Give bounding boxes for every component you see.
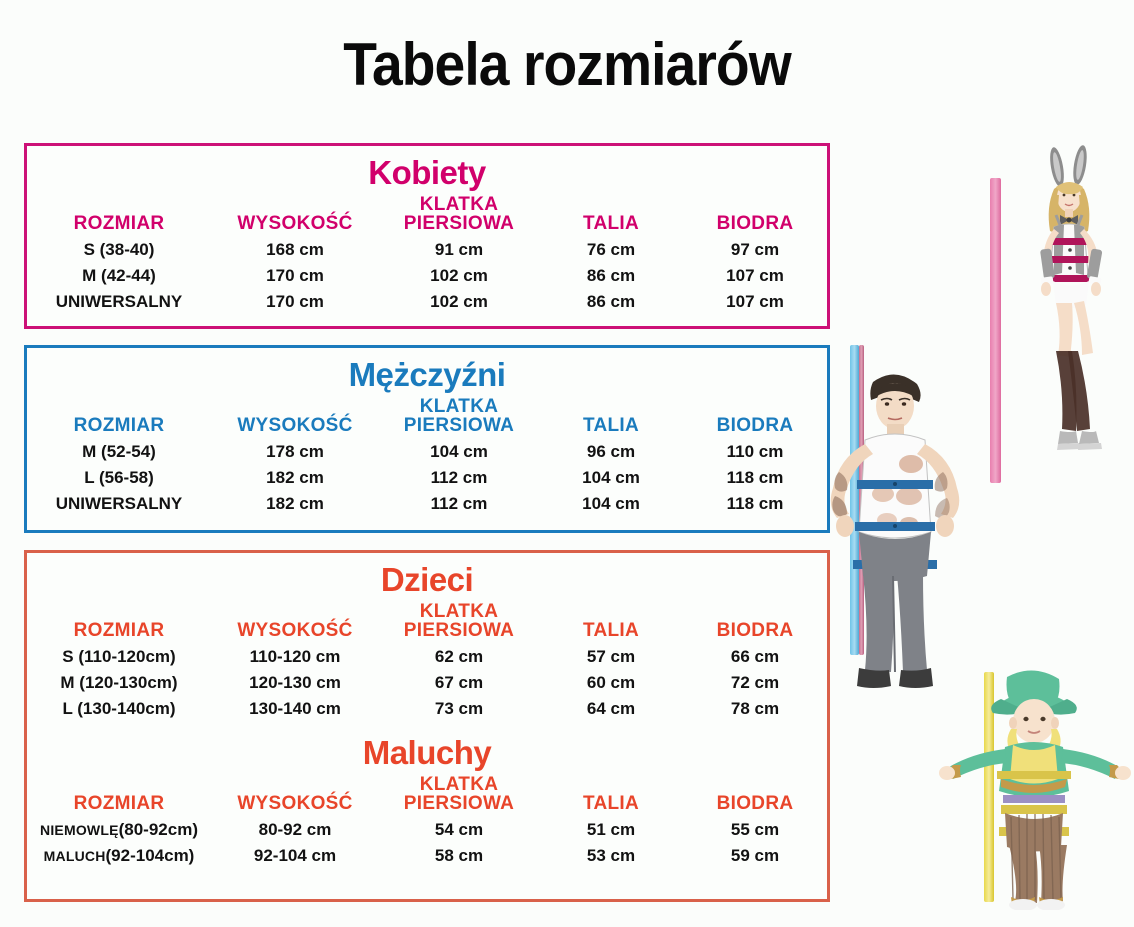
column-header-chest: KLATKA PIERSIOWA <box>379 774 539 817</box>
page-title: Tabela rozmiarów <box>45 30 1088 99</box>
cell-waist: 86 cm <box>539 289 683 315</box>
cell-size-caps: NIEMOWLĘ <box>40 822 119 838</box>
cell-size: M (120-130cm) <box>27 670 211 696</box>
column-header-size: ROZMIAR <box>27 601 211 644</box>
cell-size: NIEMOWLĘ(80-92cm) <box>27 817 211 843</box>
size-table-men: ROZMIAR WYSOKOŚĆ KLATKA PIERSIOWA TALIA … <box>27 396 827 517</box>
cell-height: 170 cm <box>211 289 379 315</box>
column-header-waist: TALIA <box>539 194 683 237</box>
cell-size: UNIWERSALNY <box>27 289 211 315</box>
cell-height: 178 cm <box>211 439 379 465</box>
column-header-chest-line1: KLATKA <box>379 603 539 622</box>
table-row: M (52-54) 178 cm 104 cm 96 cm 110 cm <box>27 439 827 465</box>
column-header-size: ROZMIAR <box>27 396 211 439</box>
cell-height: 170 cm <box>211 263 379 289</box>
table-row: S (110-120cm) 110-120 cm 62 cm 57 cm 66 … <box>27 644 827 670</box>
cell-size: S (110-120cm) <box>27 644 211 670</box>
column-header-chest-line2: PIERSIOWA <box>379 215 539 234</box>
size-table-kids: ROZMIAR WYSOKOŚĆ KLATKA PIERSIOWA TALIA … <box>27 601 827 722</box>
cell-waist: 60 cm <box>539 670 683 696</box>
table-row: L (56-58) 182 cm 112 cm 104 cm 118 cm <box>27 465 827 491</box>
column-header-hips: BIODRA <box>683 194 827 237</box>
cell-chest: 104 cm <box>379 439 539 465</box>
cell-size-range: (80-92cm) <box>119 820 198 839</box>
cell-waist: 51 cm <box>539 817 683 843</box>
table-row: L (130-140cm) 130-140 cm 73 cm 64 cm 78 … <box>27 696 827 722</box>
cell-hips: 107 cm <box>683 289 827 315</box>
cell-size-caps: MALUCH <box>44 848 106 864</box>
cell-waist: 104 cm <box>539 491 683 517</box>
table-header-row: ROZMIAR WYSOKOŚĆ KLATKA PIERSIOWA TALIA … <box>27 774 827 817</box>
column-header-waist: TALIA <box>539 601 683 644</box>
column-header-waist: TALIA <box>539 774 683 817</box>
cell-hips: 78 cm <box>683 696 827 722</box>
cell-waist: 76 cm <box>539 237 683 263</box>
table-row: M (120-130cm) 120-130 cm 67 cm 60 cm 72 … <box>27 670 827 696</box>
size-table-toddlers: ROZMIAR WYSOKOŚĆ KLATKA PIERSIOWA TALIA … <box>27 774 827 869</box>
table-header-row: ROZMIAR WYSOKOŚĆ KLATKA PIERSIOWA TALIA … <box>27 601 827 644</box>
cell-chest: 67 cm <box>379 670 539 696</box>
cell-waist: 53 cm <box>539 843 683 869</box>
cell-size: L (130-140cm) <box>27 696 211 722</box>
cell-height: 182 cm <box>211 491 379 517</box>
cell-height: 80-92 cm <box>211 817 379 843</box>
column-header-chest-line2: PIERSIOWA <box>379 622 539 641</box>
woman-bunny-costume-illustration <box>1010 145 1134 505</box>
cell-hips: 55 cm <box>683 817 827 843</box>
column-header-chest: KLATKA PIERSIOWA <box>379 396 539 439</box>
column-header-chest: KLATKA PIERSIOWA <box>379 194 539 237</box>
cell-hips: 59 cm <box>683 843 827 869</box>
column-header-chest: KLATKA PIERSIOWA <box>379 601 539 644</box>
cell-height: 110-120 cm <box>211 644 379 670</box>
cell-size: L (56-58) <box>27 465 211 491</box>
cell-waist: 86 cm <box>539 263 683 289</box>
cell-size: M (52-54) <box>27 439 211 465</box>
table-row: S (38-40) 168 cm 91 cm 76 cm 97 cm <box>27 237 827 263</box>
column-header-hips: BIODRA <box>683 774 827 817</box>
column-header-chest-line1: KLATKA <box>379 398 539 417</box>
man-tattooed-illustration <box>795 360 985 700</box>
table-header-row: ROZMIAR WYSOKOŚĆ KLATKA PIERSIOWA TALIA … <box>27 194 827 237</box>
cell-height: 92-104 cm <box>211 843 379 869</box>
section-title-kids: Dzieci <box>27 561 827 599</box>
cell-waist: 104 cm <box>539 465 683 491</box>
size-table-women: ROZMIAR WYSOKOŚĆ KLATKA PIERSIOWA TALIA … <box>27 194 827 315</box>
table-row: NIEMOWLĘ(80-92cm) 80-92 cm 54 cm 51 cm 5… <box>27 817 827 843</box>
column-header-chest-line2: PIERSIOWA <box>379 795 539 814</box>
column-header-chest-line1: KLATKA <box>379 196 539 215</box>
cell-chest: 54 cm <box>379 817 539 843</box>
cell-size: S (38-40) <box>27 237 211 263</box>
section-title-women: Kobiety <box>27 154 827 192</box>
section-title-men: Mężczyźni <box>27 356 827 394</box>
cell-height: 168 cm <box>211 237 379 263</box>
child-scarecrow-costume-illustration <box>935 665 1134 910</box>
cell-size: M (42-44) <box>27 263 211 289</box>
column-header-size: ROZMIAR <box>27 194 211 237</box>
column-header-height: WYSOKOŚĆ <box>211 194 379 237</box>
cell-hips: 97 cm <box>683 237 827 263</box>
column-header-height: WYSOKOŚĆ <box>211 774 379 817</box>
cell-hips: 107 cm <box>683 263 827 289</box>
section-women: Kobiety ROZMIAR WYSOKOŚĆ KLATKA PIERSIOW… <box>24 143 830 329</box>
table-header-row: ROZMIAR WYSOKOŚĆ KLATKA PIERSIOWA TALIA … <box>27 396 827 439</box>
section-title-toddlers: Maluchy <box>27 734 827 772</box>
column-header-waist: TALIA <box>539 396 683 439</box>
cell-height: 182 cm <box>211 465 379 491</box>
cell-waist: 57 cm <box>539 644 683 670</box>
table-row: UNIWERSALNY 170 cm 102 cm 86 cm 107 cm <box>27 289 827 315</box>
table-row: MALUCH(92-104cm) 92-104 cm 58 cm 53 cm 5… <box>27 843 827 869</box>
cell-waist: 64 cm <box>539 696 683 722</box>
table-row: UNIWERSALNY 182 cm 112 cm 104 cm 118 cm <box>27 491 827 517</box>
cell-chest: 102 cm <box>379 289 539 315</box>
cell-height: 120-130 cm <box>211 670 379 696</box>
cell-chest: 62 cm <box>379 644 539 670</box>
cell-chest: 112 cm <box>379 491 539 517</box>
cell-height: 130-140 cm <box>211 696 379 722</box>
column-header-height: WYSOKOŚĆ <box>211 601 379 644</box>
cell-size: MALUCH(92-104cm) <box>27 843 211 869</box>
column-header-height: WYSOKOŚĆ <box>211 396 379 439</box>
cell-chest: 73 cm <box>379 696 539 722</box>
cell-size: UNIWERSALNY <box>27 491 211 517</box>
section-men: Mężczyźni ROZMIAR WYSOKOŚĆ KLATKA PIERSI… <box>24 345 830 533</box>
pink-measuring-tape <box>990 178 1001 483</box>
cell-chest: 58 cm <box>379 843 539 869</box>
cell-waist: 96 cm <box>539 439 683 465</box>
cell-size-range: (92-104cm) <box>106 846 195 865</box>
cell-chest: 91 cm <box>379 237 539 263</box>
column-header-chest-line2: PIERSIOWA <box>379 417 539 436</box>
table-row: M (42-44) 170 cm 102 cm 86 cm 107 cm <box>27 263 827 289</box>
column-header-size: ROZMIAR <box>27 774 211 817</box>
section-kids: Dzieci ROZMIAR WYSOKOŚĆ KLATKA PIERSIOWA… <box>24 550 830 902</box>
cell-chest: 112 cm <box>379 465 539 491</box>
cell-chest: 102 cm <box>379 263 539 289</box>
